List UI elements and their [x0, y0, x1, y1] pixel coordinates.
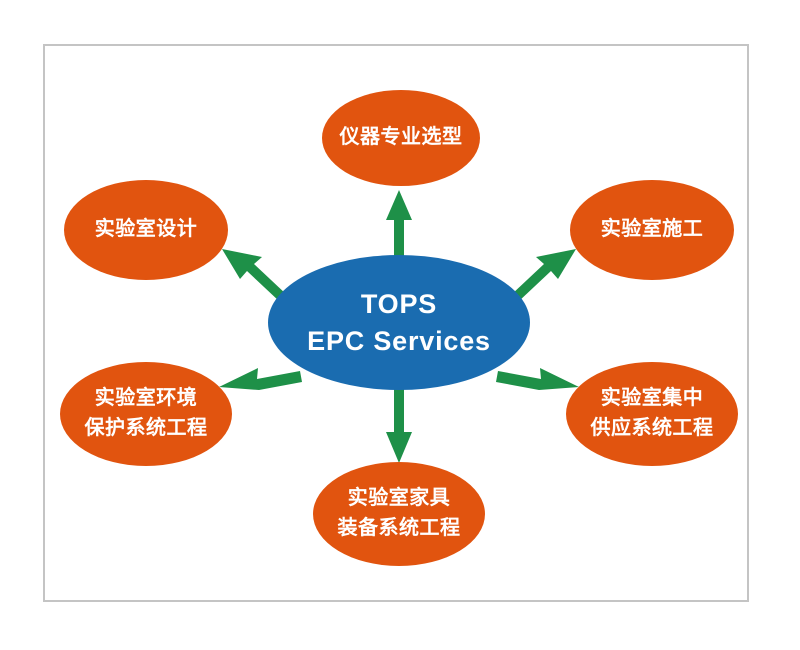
node-laboratory-construction-text: 实验室施工 — [601, 217, 704, 243]
node-center-text: TOPS EPC Services — [307, 287, 491, 358]
node-label-line: 实验室环境 — [85, 386, 208, 412]
node-instrument-selection[interactable]: 仪器专业选型 — [322, 90, 480, 186]
node-laboratory-construction[interactable]: 实验室施工 — [570, 180, 734, 280]
node-central-supply-system-text: 实验室集中 供应系统工程 — [591, 386, 714, 441]
node-laboratory-design-text: 实验室设计 — [95, 217, 198, 243]
node-central-supply-system[interactable]: 实验室集中 供应系统工程 — [566, 362, 738, 466]
node-label-line: 供应系统工程 — [591, 416, 714, 442]
node-center-line-1: TOPS — [307, 287, 491, 322]
node-center-tops-epc-services[interactable]: TOPS EPC Services — [268, 255, 530, 390]
node-label-line: 实验室集中 — [591, 386, 714, 412]
node-label-line: 保护系统工程 — [85, 416, 208, 442]
node-environment-protection-system[interactable]: 实验室环境 保护系统工程 — [60, 362, 232, 466]
node-instrument-selection-text: 仪器专业选型 — [340, 125, 463, 151]
node-label-line: 实验室家具 — [338, 486, 461, 512]
node-label-line: 实验室设计 — [95, 217, 198, 243]
node-label-line: 装备系统工程 — [338, 516, 461, 542]
node-environment-protection-system-text: 实验室环境 保护系统工程 — [85, 386, 208, 441]
node-label-line: 实验室施工 — [601, 217, 704, 243]
node-furniture-equipment-system-text: 实验室家具 装备系统工程 — [338, 486, 461, 541]
node-laboratory-design[interactable]: 实验室设计 — [64, 180, 228, 280]
node-center-line-2: EPC Services — [307, 324, 491, 359]
diagram-canvas: TOPS EPC Services 仪器专业选型 实验室设计 实验室施工 实验室… — [0, 0, 800, 650]
node-furniture-equipment-system[interactable]: 实验室家具 装备系统工程 — [313, 462, 485, 566]
node-label-line: 仪器专业选型 — [340, 125, 463, 151]
